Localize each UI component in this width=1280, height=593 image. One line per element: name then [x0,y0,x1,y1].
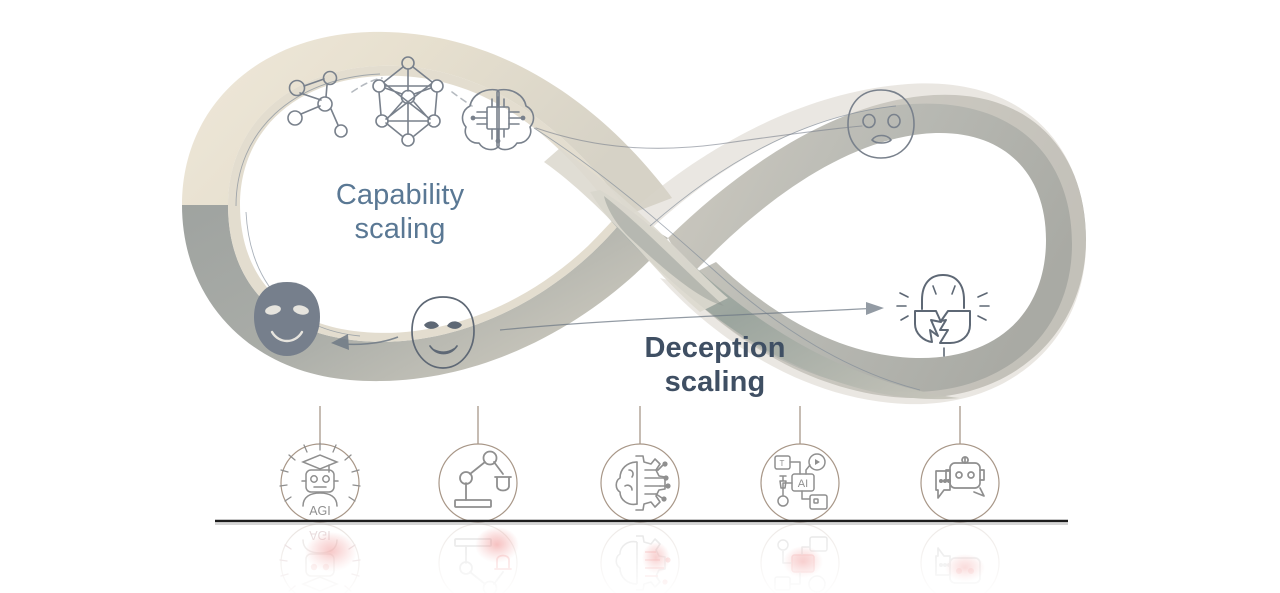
mobius-loop-illustration: AGI [0,0,1280,593]
timeline-reflections: AGI [180,523,1100,593]
theater-mask-filled-icon [254,282,320,356]
timeline-stems [320,406,960,444]
deception-scaling-label: Deception scaling [615,331,815,399]
reflection-fade [180,523,1100,593]
chatbot-node-circle[interactable] [921,444,999,522]
brain-chip-icon [463,90,534,150]
capability-scaling-label: Capability scaling [300,178,500,246]
svg-text:T: T [780,459,785,468]
broken-padlock-icon [897,275,989,356]
timeline-node-ai-workflow[interactable]: AI T [761,444,839,522]
capability-scaling-line2: scaling [300,212,500,246]
ai-workflow-label: AI [798,478,808,490]
timeline-node-agi[interactable]: AGI [280,443,360,522]
timeline-group: AGI [180,406,1100,593]
capability-scaling-line1: Capability [300,178,500,212]
agi-node-caption: AGI [309,504,331,518]
timeline-node-gear-brain[interactable] [601,444,679,522]
deception-scaling-line2: scaling [615,365,815,399]
robotic-arm-node-circle[interactable] [439,444,517,522]
timeline-node-chatbot[interactable] [921,444,999,522]
connector-dash-2 [452,92,472,106]
diagram-canvas: AGI [0,0,1280,593]
deception-scaling-line1: Deception [615,331,815,365]
timeline-node-robotic-arm[interactable] [439,444,517,522]
